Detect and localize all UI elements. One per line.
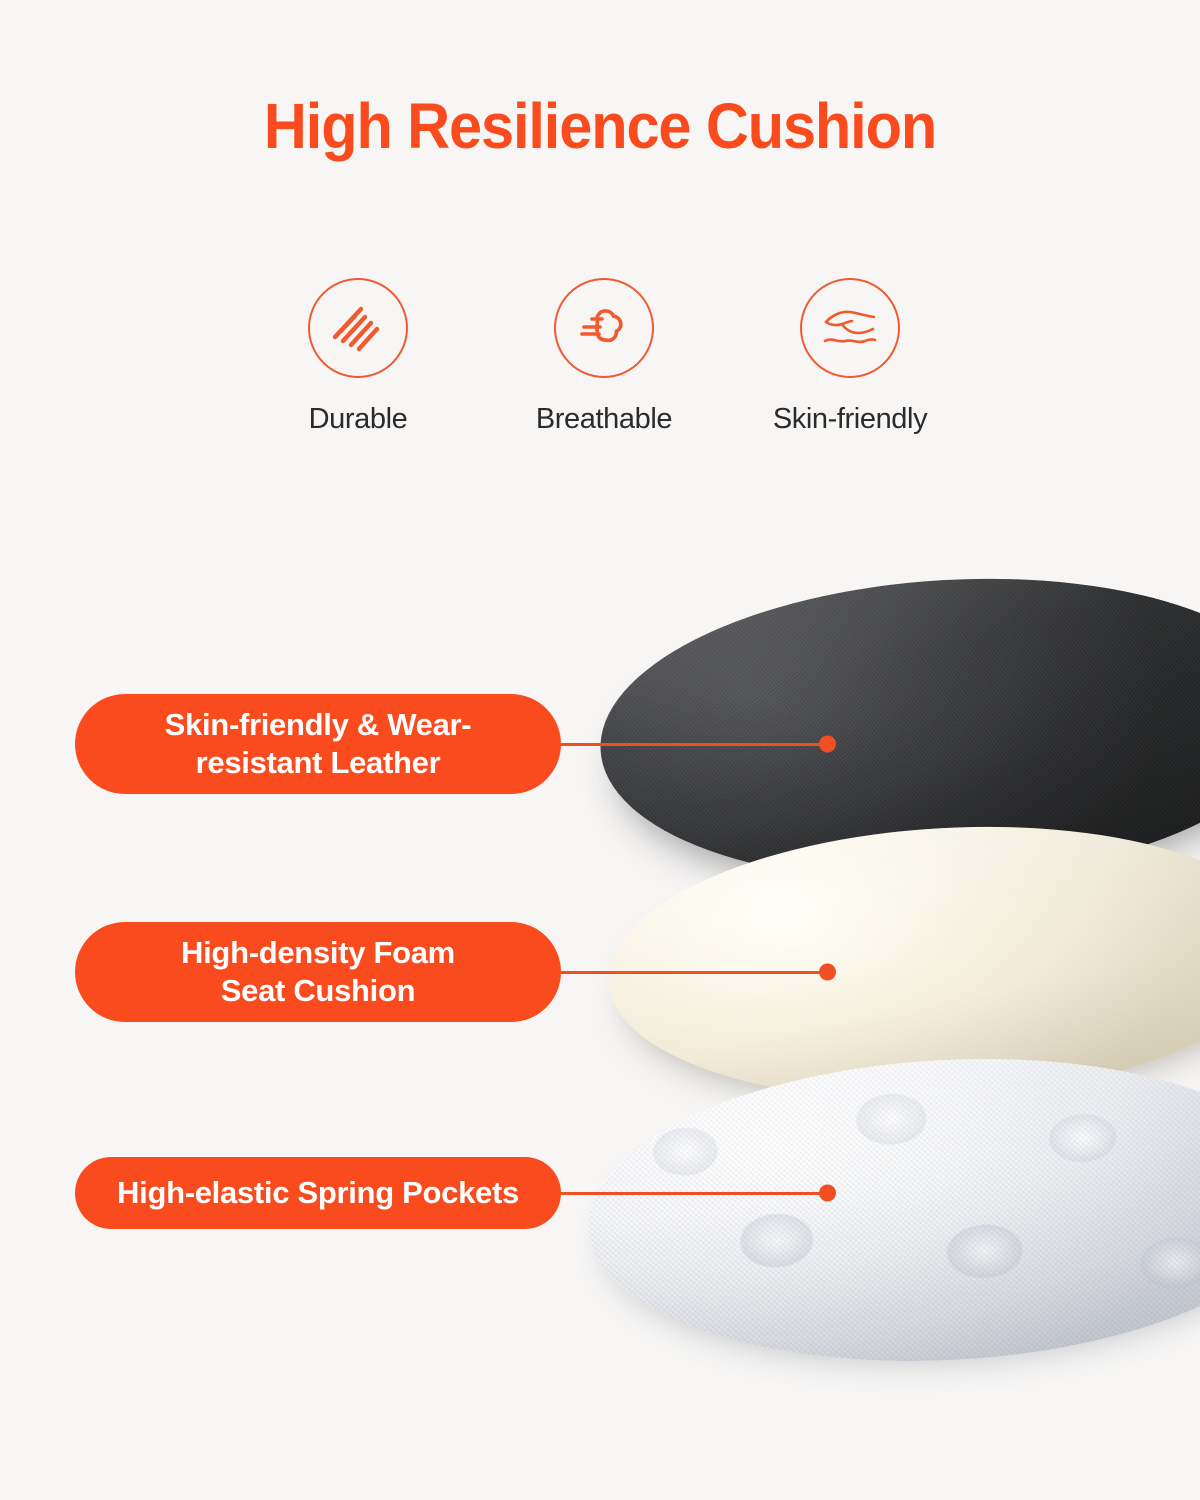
callout-spring-pill: High-elastic Spring Pockets [75,1157,561,1229]
callout-foam-pill: High-density Foam Seat Cushion [75,922,561,1022]
feature-durable: Durable [248,278,468,436]
callout-leather-line1: Skin-friendly & Wear- [165,706,472,744]
callout-spring: High-elastic Spring Pockets [75,1157,829,1229]
feature-skin-friendly-circle [800,278,900,378]
feature-breathable: Breathable [494,278,714,436]
callout-leather-pill: Skin-friendly & Wear- resistant Leather [75,694,561,794]
callout-leather-line2: resistant Leather [165,744,472,782]
breathable-airflow-icon [573,297,635,359]
callout-spring-line1: High-elastic Spring Pockets [117,1174,519,1212]
callout-foam-line1: High-density Foam [181,934,455,972]
feature-badge-row: Durable Breathable [248,278,960,436]
skin-friendly-hand-icon [818,296,882,360]
feature-durable-circle [308,278,408,378]
callout-leather: Skin-friendly & Wear- resistant Leather [75,694,829,794]
page-title: High Resilience Cushion [42,88,1158,164]
feature-durable-label: Durable [309,402,408,436]
durable-hatch-icon [327,297,389,359]
feature-skin-friendly-label: Skin-friendly [773,402,927,436]
callout-foam: High-density Foam Seat Cushion [75,922,829,1022]
callout-spring-leader-line [561,1192,829,1195]
feature-skin-friendly: Skin-friendly [740,278,960,436]
feature-breathable-circle [554,278,654,378]
callout-leather-leader-line [561,743,829,746]
callout-foam-leader-line [561,971,829,974]
callout-foam-line2: Seat Cushion [181,972,455,1010]
feature-breathable-label: Breathable [536,402,672,436]
